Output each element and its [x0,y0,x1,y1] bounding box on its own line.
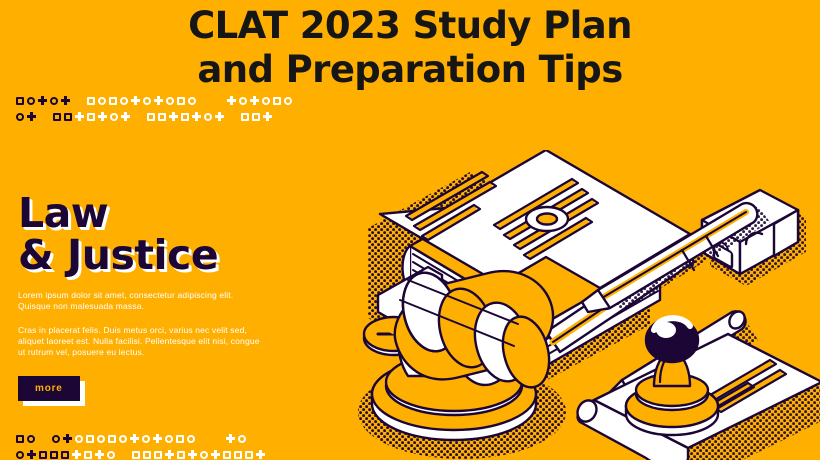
decorative-square-glyph [109,97,117,105]
decorative-plus-glyph [165,450,174,459]
decorative-plus-glyph [192,112,201,121]
page-title: CLAT 2023 Study Plan and Preparation Tip… [0,4,820,92]
decorative-square-glyph [177,97,185,105]
decorative-circle-glyph [75,435,83,443]
decorative-square-glyph [53,113,61,121]
decorative-circle-glyph [165,435,173,443]
decorative-circle-glyph [27,97,35,105]
decorative-square-glyph [87,97,95,105]
decorative-symbol-row [16,110,295,123]
decorative-plus-glyph [75,112,84,121]
decorative-square-glyph [181,113,189,121]
decorative-circle-glyph [284,97,292,105]
headline: Law & Justice [18,192,268,276]
decorative-circle-glyph [97,435,105,443]
decorative-square-glyph [87,113,95,121]
body-paragraph-2: Cras in placerat felis. Duis metus orci,… [18,325,268,358]
decorative-circle-glyph [98,97,106,105]
clat-study-plan-banner: CLAT 2023 Study Plan and Preparation Tip… [0,0,820,460]
decorative-plus-glyph [63,434,72,443]
decorative-circle-glyph [143,97,151,105]
decorative-circle-glyph [50,97,58,105]
body-paragraph-1: Lorem ipsum dolor sit amet, consectetur … [18,290,268,312]
law-justice-illustration [350,150,820,460]
decorative-circle-glyph [52,435,60,443]
decorative-circle-glyph [166,97,174,105]
decorative-plus-glyph [121,112,130,121]
decorative-plus-glyph [27,112,36,121]
decorative-circle-glyph [200,451,208,459]
decorative-plus-glyph [98,112,107,121]
decorative-circle-glyph [27,435,35,443]
more-button[interactable]: more [18,376,80,401]
decorative-symbol-row [16,94,295,107]
decorative-square-glyph [16,97,24,105]
decorative-plus-glyph [169,112,178,121]
decorative-plus-glyph [256,450,265,459]
decorative-plus-glyph [227,96,236,105]
decorative-plus-glyph [72,450,81,459]
decorative-square-glyph [273,97,281,105]
decorative-circle-glyph [16,451,24,459]
decorative-circle-glyph [188,97,196,105]
decorative-plus-glyph [38,96,47,105]
headline-line-2: & Justice [18,234,268,276]
decorative-plus-glyph [27,450,36,459]
decorative-square-glyph [177,451,185,459]
decorative-plus-glyph [215,112,224,121]
decorative-plus-glyph [211,450,220,459]
decorative-square-glyph [132,451,140,459]
decorative-plus-glyph [131,96,140,105]
decorative-pattern-top [16,94,295,126]
decorative-plus-glyph [154,96,163,105]
decorative-plus-glyph [95,450,104,459]
decorative-circle-glyph [16,113,24,121]
decorative-circle-glyph [119,435,127,443]
decorative-square-glyph [86,435,94,443]
decorative-circle-glyph [107,451,115,459]
decorative-square-glyph [143,451,151,459]
decorative-square-glyph [234,451,242,459]
title-line-1: CLAT 2023 Study Plan [0,4,820,48]
decorative-square-glyph [252,113,260,121]
decorative-plus-glyph [153,434,162,443]
decorative-square-glyph [61,451,69,459]
decorative-square-glyph [147,113,155,121]
title-line-2: and Preparation Tips [0,48,820,92]
decorative-symbol-row [16,432,268,445]
decorative-circle-glyph [239,97,247,105]
decorative-square-glyph [158,113,166,121]
left-content-panel: Law & Justice Lorem ipsum dolor sit amet… [18,192,268,401]
decorative-square-glyph [154,451,162,459]
decorative-pattern-bottom [16,432,268,460]
decorative-circle-glyph [110,113,118,121]
headline-line-1: Law [18,189,108,237]
decorative-circle-glyph [120,97,128,105]
decorative-plus-glyph [250,96,259,105]
decorative-square-glyph [108,435,116,443]
wax-seal [526,207,568,231]
decorative-square-glyph [84,451,92,459]
decorative-plus-glyph [130,434,139,443]
decorative-plus-glyph [188,450,197,459]
decorative-circle-glyph [187,435,195,443]
decorative-plus-glyph [61,96,70,105]
decorative-circle-glyph [204,113,212,121]
decorative-plus-glyph [226,434,235,443]
decorative-circle-glyph [238,435,246,443]
decorative-square-glyph [245,451,253,459]
decorative-circle-glyph [142,435,150,443]
decorative-square-glyph [50,451,58,459]
decorative-plus-glyph [263,112,272,121]
decorative-square-glyph [176,435,184,443]
decorative-square-glyph [39,451,47,459]
decorative-square-glyph [64,113,72,121]
decorative-circle-glyph [262,97,270,105]
decorative-square-glyph [223,451,231,459]
decorative-symbol-row [16,448,268,460]
decorative-square-glyph [241,113,249,121]
decorative-square-glyph [16,435,24,443]
